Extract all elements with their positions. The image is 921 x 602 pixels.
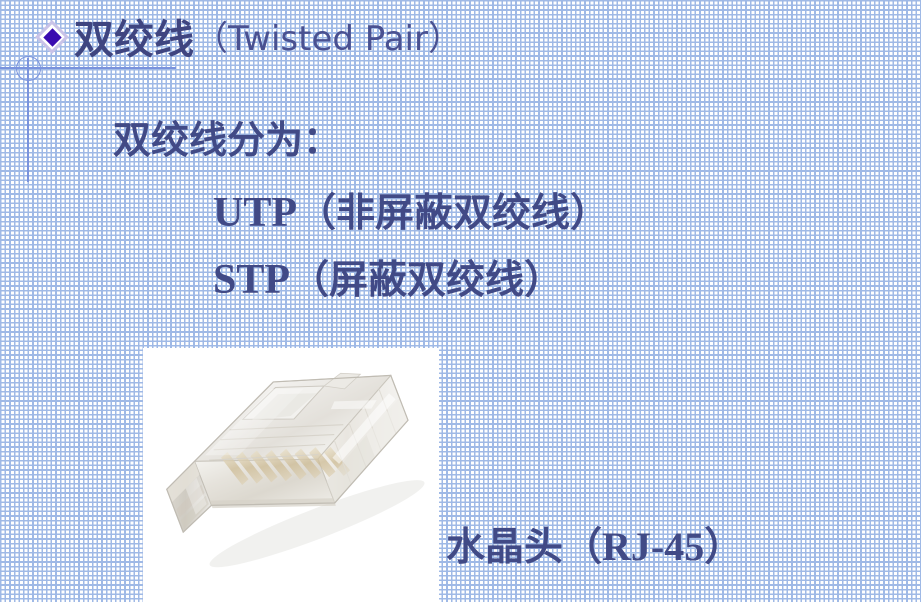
caption-open-paren: （ xyxy=(563,525,602,570)
stp-name: 屏蔽双绞线 xyxy=(329,258,524,303)
caption-label: RJ-45 xyxy=(602,524,704,569)
figure-caption: 水晶头（RJ-45） xyxy=(446,527,743,567)
body-intro-text: 双绞线分为： xyxy=(113,121,341,159)
caption-close-paren: ） xyxy=(704,525,743,570)
body-item-stp: STP（屏蔽双绞线） xyxy=(213,259,563,301)
utp-close-paren: ） xyxy=(570,191,609,236)
title-chinese: 双绞线 xyxy=(74,20,194,60)
title-english: （Twisted Pair） xyxy=(194,22,462,58)
rj45-photo-plate xyxy=(143,348,439,602)
stp-close-paren: ） xyxy=(524,258,563,303)
utp-open-paren: （ xyxy=(297,191,336,236)
utp-abbr: UTP xyxy=(213,190,297,236)
utp-name: 非屏蔽双绞线 xyxy=(336,191,570,236)
diamond-bullet-icon xyxy=(38,23,72,57)
stp-abbr: STP xyxy=(213,257,290,303)
slide-title: 双绞线 （Twisted Pair） xyxy=(38,20,462,60)
caption-chinese: 水晶头 xyxy=(446,525,563,570)
stp-open-paren: （ xyxy=(290,258,329,303)
body-item-utp: UTP（非屏蔽双绞线） xyxy=(213,192,609,234)
rj45-connector-image xyxy=(143,348,439,602)
slide-canvas: 双绞线 （Twisted Pair） 双绞线分为： UTP（非屏蔽双绞线） ST… xyxy=(0,0,921,602)
